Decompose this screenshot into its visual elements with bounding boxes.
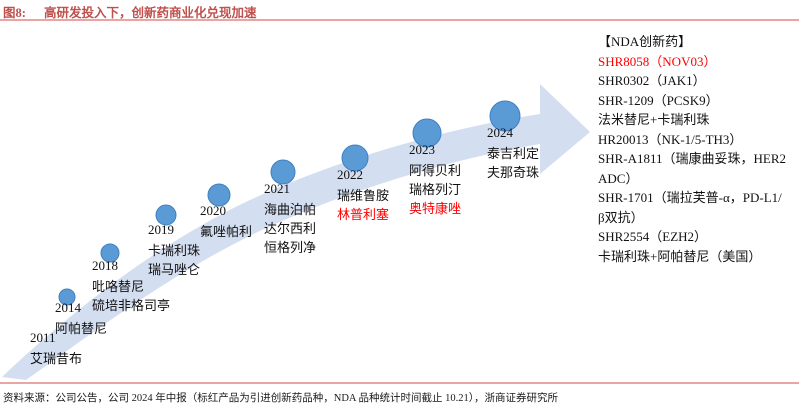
node-year-label: 2021 (264, 181, 290, 197)
node-drug-label: 瑞维鲁胺 (337, 185, 389, 204)
header-divider (0, 19, 799, 21)
nda-drug-item: ADC） (598, 169, 799, 189)
node-drug-label: 夫那奇珠 (487, 162, 539, 181)
nda-drug-item: β双抗） (598, 208, 799, 228)
node-drug-label: 卡瑞利珠 (148, 240, 200, 259)
node-year-label: 2024 (487, 125, 513, 141)
node-year-label: 2023 (409, 142, 435, 158)
node-year-label: 2018 (92, 258, 118, 274)
node-year-label: 2019 (148, 222, 174, 238)
node-drug-label: 达尔西利 (264, 218, 316, 237)
nda-drug-item: 卡瑞利珠+阿帕替尼（美国） (598, 247, 799, 267)
node-drug-label: 阿得贝利 (409, 160, 461, 179)
node-drug-label: 氟唑帕利 (200, 221, 252, 240)
node-drug-label: 恒格列净 (264, 237, 316, 256)
node-drug-label: 阿帕替尼 (55, 318, 107, 337)
node-drug-label: 硫培非格司亭 (92, 295, 170, 314)
nda-panel-title: 【NDA创新药】 (598, 32, 799, 52)
node-drug-label: 海曲泊帕 (264, 199, 316, 218)
node-year-label: 2022 (337, 167, 363, 183)
nda-drug-item: SHR0302（JAK1） (598, 71, 799, 91)
nda-drug-item: SHR-A1811（瑞康曲妥珠，HER2 (598, 149, 799, 169)
nda-drug-list: SHR8058（NOV03）SHR0302（JAK1）SHR-1209（PCSK… (598, 52, 799, 267)
node-year-label: 2020 (200, 203, 226, 219)
node-drug-label: 林普利塞 (337, 204, 389, 223)
node-drug-label: 泰吉利定 (487, 143, 539, 162)
nda-drug-item: SHR-1701（瑞拉芙普-α，PD-L1/ (598, 188, 799, 208)
nda-drug-item: HR20013（NK-1/5-TH3） (598, 130, 799, 150)
footer-divider (0, 382, 799, 384)
node-drug-label: 奥特康唑 (409, 198, 461, 217)
nda-drug-item: SHR2554（EZH2） (598, 227, 799, 247)
node-drug-label: 瑞格列汀 (409, 179, 461, 198)
node-drug-label: 艾瑞昔布 (30, 348, 82, 367)
nda-panel: 【NDA创新药】 SHR8058（NOV03）SHR0302（JAK1）SHR-… (598, 32, 799, 266)
node-drug-label: 吡咯替尼 (92, 276, 144, 295)
source-note: 资料来源：公司公告，公司 2024 年中报（标红产品为引进创新药品种，NDA 品… (3, 390, 558, 405)
figure-root: 图8: 高研发投入下，创新药商业化兑现加速 2011艾瑞昔布2014阿帕替尼20… (0, 0, 799, 408)
nda-drug-item: SHR-1209（PCSK9） (598, 91, 799, 111)
node-year-label: 2011 (30, 330, 56, 346)
nda-drug-item: SHR8058（NOV03） (598, 52, 799, 72)
node-year-label: 2014 (55, 300, 81, 316)
nda-drug-item: 法米替尼+卡瑞利珠 (598, 110, 799, 130)
node-drug-label: 瑞马唑仑 (148, 259, 200, 278)
